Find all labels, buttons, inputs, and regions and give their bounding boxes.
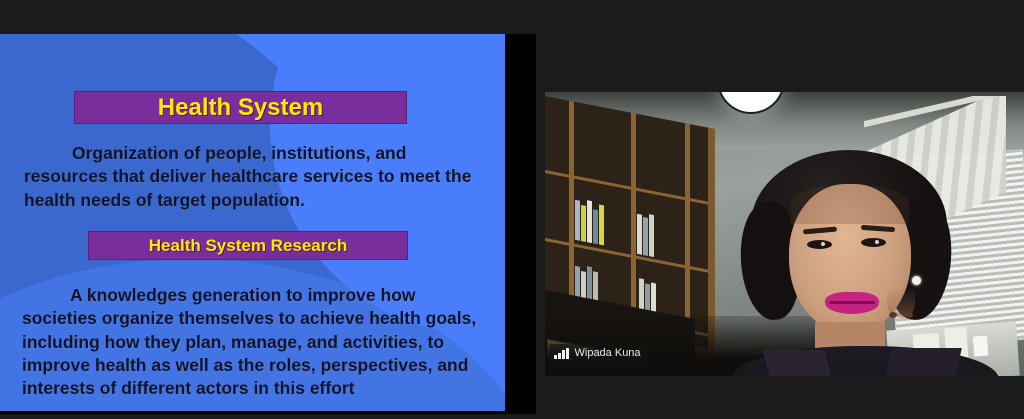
- nostril: [889, 312, 897, 318]
- meeting-screen-share-view: Health System Organization of people, in…: [0, 0, 1024, 419]
- books-group: [637, 210, 654, 257]
- participant-person: [737, 150, 987, 376]
- nostril: [905, 312, 913, 318]
- book: [637, 214, 642, 255]
- eye-highlight: [821, 242, 825, 246]
- slide-subtitle-banner: Health System Research: [88, 231, 408, 260]
- bookcase-mullion: [685, 123, 690, 345]
- eye-right: [861, 238, 886, 247]
- slide-research-paragraph: A knowledges generation to improve how s…: [22, 284, 492, 400]
- bookcase-mullion: [631, 113, 636, 335]
- slide-content: Health System Organization of people, in…: [0, 34, 505, 411]
- participant-name-badge: Wipada Kuna: [549, 344, 649, 362]
- ceiling-light-icon: [717, 92, 785, 114]
- shared-screen-region[interactable]: Health System Organization of people, in…: [0, 34, 536, 414]
- participant-name-label: Wipada Kuna: [575, 347, 641, 359]
- nose: [887, 288, 915, 318]
- book: [643, 217, 648, 256]
- slide-definition-paragraph: Organization of people, institutions, an…: [24, 142, 486, 212]
- book: [593, 209, 598, 244]
- slide-title-text: Health System: [158, 94, 323, 122]
- mouth: [825, 292, 879, 314]
- eye-highlight: [875, 240, 879, 244]
- books-group: [575, 196, 604, 246]
- forehead-shading: [791, 184, 909, 224]
- slide-title-banner: Health System: [74, 91, 407, 124]
- book: [581, 205, 586, 242]
- bookcase-mullion: [569, 101, 574, 323]
- jacket-lapel-right: [878, 348, 962, 376]
- book: [599, 204, 604, 245]
- presentation-slide[interactable]: Health System Organization of people, in…: [0, 34, 505, 411]
- book: [575, 200, 580, 241]
- pearl-earring: [912, 276, 921, 285]
- participant-video-tile[interactable]: Wipada Kuna: [545, 92, 1024, 376]
- book: [587, 200, 592, 243]
- eye-left: [807, 240, 832, 249]
- slide-subtitle-text: Health System Research: [149, 236, 347, 256]
- mouth-line: [829, 301, 875, 304]
- book: [649, 214, 654, 257]
- signal-bars-icon: [554, 348, 569, 359]
